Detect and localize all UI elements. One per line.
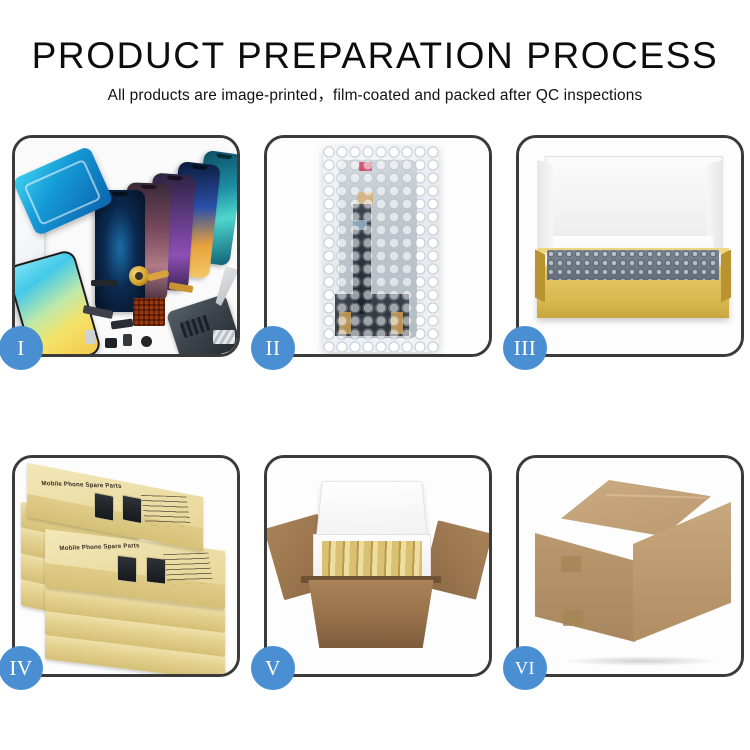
phone-back-housing-image [166, 294, 237, 354]
panel-image-area: Mobile Phone Spare Parts Mobile Phone Sp… [15, 458, 237, 674]
step-badge-4: IV [0, 646, 43, 690]
step-badge-1: I [0, 326, 43, 370]
process-steps-grid: I II [0, 133, 750, 693]
spare-parts-group-image [77, 264, 237, 354]
panel-image-area [267, 458, 489, 674]
step-badge-5: V [251, 646, 295, 690]
panel-products-and-parts[interactable]: I [12, 135, 240, 357]
page-title: PRODUCT PREPARATION PROCESS [0, 34, 750, 78]
stacked-kraft-boxes-image: Mobile Phone Spare Parts Mobile Phone Sp… [19, 474, 237, 670]
foam-lid-image [316, 481, 429, 541]
step-badge-3: III [503, 326, 547, 370]
panel-sealed-carton[interactable]: VI [516, 455, 744, 677]
phone-lineup-image [93, 150, 237, 280]
panel-image-area [519, 458, 741, 674]
panel-inner-kraft-box[interactable]: III [516, 135, 744, 357]
step-badge-6: VI [503, 646, 547, 690]
sealed-carton-image [535, 480, 731, 650]
bubble-wrapped-contents-image [547, 250, 719, 280]
bubble-wrap-bag-image [323, 146, 439, 352]
packed-boxes-image [322, 541, 422, 579]
panel-image-area [267, 138, 489, 354]
copper-grid-part-icon [133, 298, 165, 326]
page-subtitle: All products are image-printed，film-coat… [0, 85, 750, 107]
panel-image-area [15, 138, 237, 354]
panel-image-area [519, 138, 741, 354]
red-label-sticker [359, 162, 372, 171]
screws-group-icon [213, 330, 235, 344]
page-header: PRODUCT PREPARATION PROCESS All products… [0, 0, 750, 107]
step-badge-2: II [251, 326, 295, 370]
panel-bubble-wrapped-screen[interactable]: II [264, 135, 492, 357]
panel-stacked-boxes[interactable]: Mobile Phone Spare Parts Mobile Phone Sp… [12, 455, 240, 677]
kraft-tray-box-image [537, 266, 729, 318]
panel-foam-lined-carton[interactable]: V [264, 455, 492, 677]
shipping-carton-image [303, 580, 439, 648]
